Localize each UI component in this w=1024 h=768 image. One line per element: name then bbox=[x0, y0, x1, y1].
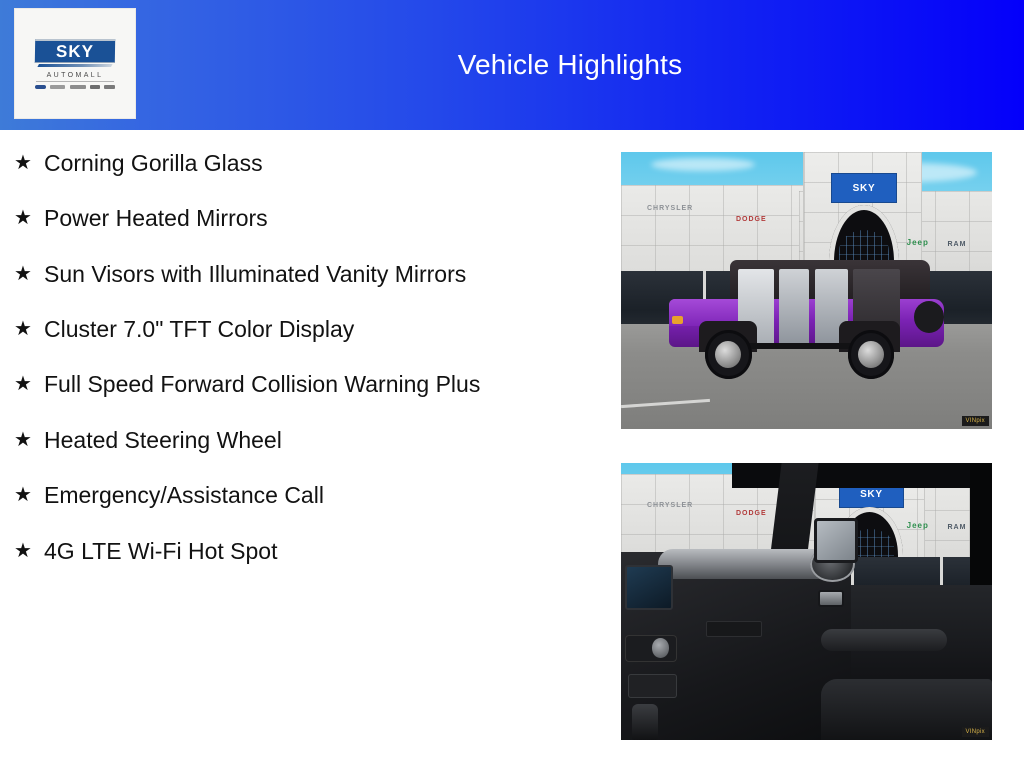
star-bullet-icon: ★ bbox=[14, 425, 44, 455]
vehicle-interior-photo: SKY CHRYSLER DODGE Jeep RAM bbox=[621, 463, 992, 740]
vehicle-exterior-photo: SKY CHRYSLER DODGE Jeep RAM bbox=[621, 152, 992, 429]
door-armrest bbox=[821, 629, 947, 651]
vehicle-spare-tire bbox=[914, 301, 944, 333]
gear-shifter bbox=[632, 704, 658, 740]
dodge-sign-text: DODGE bbox=[736, 216, 767, 223]
cloud-icon bbox=[651, 158, 755, 172]
interior-scene: SKY CHRYSLER DODGE Jeep RAM bbox=[621, 463, 992, 740]
dodge-mark-icon bbox=[50, 85, 65, 89]
photo-watermark: VINpix bbox=[962, 416, 989, 426]
feature-label: 4G LTE Wi-Fi Hot Spot bbox=[44, 536, 277, 566]
wagoneer-mark-icon bbox=[104, 85, 115, 89]
logo-divider bbox=[36, 81, 114, 82]
star-bullet-icon: ★ bbox=[14, 536, 44, 566]
climate-control-knobs bbox=[625, 635, 677, 663]
page-header: SKY AUTOMALL Vehicle Highlights bbox=[0, 0, 1024, 130]
side-mirror bbox=[814, 518, 859, 562]
sky-logo-swoosh-icon bbox=[37, 64, 112, 67]
list-item: ★ Corning Gorilla Glass bbox=[14, 148, 600, 178]
sky-logo-text: SKY bbox=[56, 43, 94, 60]
chrysler-mark-icon bbox=[35, 85, 46, 89]
sky-sign-text: SKY bbox=[860, 489, 883, 500]
chrysler-sign-text: CHRYSLER bbox=[647, 205, 693, 212]
list-item: ★ Cluster 7.0" TFT Color Display bbox=[14, 314, 600, 344]
dealer-logo: SKY AUTOMALL bbox=[31, 39, 119, 89]
star-bullet-icon: ★ bbox=[14, 148, 44, 178]
chrysler-sign-text: CHRYSLER bbox=[647, 502, 693, 509]
vehicle-rear-wheel bbox=[848, 330, 895, 379]
page-title: Vehicle Highlights bbox=[160, 0, 980, 130]
ram-sign-text: RAM bbox=[947, 524, 966, 531]
feature-label: Power Heated Mirrors bbox=[44, 203, 268, 233]
jeep-sign-text: Jeep bbox=[907, 238, 929, 247]
feature-label: Heated Steering Wheel bbox=[44, 425, 282, 455]
interior-headliner bbox=[732, 463, 992, 488]
exterior-scene: SKY CHRYSLER DODGE Jeep RAM bbox=[621, 152, 992, 429]
list-item: ★ Sun Visors with Illuminated Vanity Mir… bbox=[14, 259, 600, 289]
list-item: ★ Power Heated Mirrors bbox=[14, 203, 600, 233]
sky-logo-badge: SKY bbox=[35, 39, 115, 63]
star-bullet-icon: ★ bbox=[14, 480, 44, 510]
jeep-sign-text: Jeep bbox=[907, 521, 929, 530]
photo-watermark: VINpix bbox=[962, 727, 989, 737]
star-bullet-icon: ★ bbox=[14, 369, 44, 399]
vehicle-front-wheel bbox=[705, 330, 752, 379]
vehicle-turn-signal bbox=[672, 316, 683, 325]
list-item: ★ Full Speed Forward Collision Warning P… bbox=[14, 369, 600, 399]
list-item: ★ Emergency/Assistance Call bbox=[14, 480, 600, 510]
feature-label: Full Speed Forward Collision Warning Plu… bbox=[44, 369, 480, 399]
vehicle-highlights-list: ★ Corning Gorilla Glass ★ Power Heated M… bbox=[0, 140, 600, 768]
oem-brand-strip bbox=[35, 85, 115, 89]
parking-stripe bbox=[621, 399, 710, 408]
jeep-mark-icon bbox=[70, 85, 86, 89]
feature-label: Cluster 7.0" TFT Color Display bbox=[44, 314, 354, 344]
sky-sign-text: SKY bbox=[853, 183, 876, 194]
automall-logo-text: AUTOMALL bbox=[47, 72, 104, 79]
door-handle bbox=[818, 590, 844, 607]
ram-mark-icon bbox=[90, 85, 100, 89]
feature-label: Sun Visors with Illuminated Vanity Mirro… bbox=[44, 259, 466, 289]
ram-sign-text: RAM bbox=[947, 241, 966, 248]
dodge-sign-text: DODGE bbox=[736, 510, 767, 517]
sky-dealership-sign: SKY bbox=[832, 174, 895, 202]
feature-label: Emergency/Assistance Call bbox=[44, 480, 324, 510]
feature-label: Corning Gorilla Glass bbox=[44, 148, 263, 178]
dealer-logo-card: SKY AUTOMALL bbox=[14, 8, 136, 119]
list-item: ★ 4G LTE Wi-Fi Hot Spot bbox=[14, 536, 600, 566]
star-bullet-icon: ★ bbox=[14, 259, 44, 289]
star-bullet-icon: ★ bbox=[14, 203, 44, 233]
infotainment-touchscreen bbox=[625, 565, 673, 609]
lower-console-buttons bbox=[628, 674, 676, 699]
star-bullet-icon: ★ bbox=[14, 314, 44, 344]
jeep-wrangler-vehicle bbox=[669, 257, 944, 379]
glovebox-latch bbox=[706, 621, 762, 638]
list-item: ★ Heated Steering Wheel bbox=[14, 425, 600, 455]
vehicle-front-window bbox=[779, 269, 809, 345]
vehicle-highlights-slide: SKY AUTOMALL Vehicle Highlights ★ Cornin… bbox=[0, 0, 1024, 768]
